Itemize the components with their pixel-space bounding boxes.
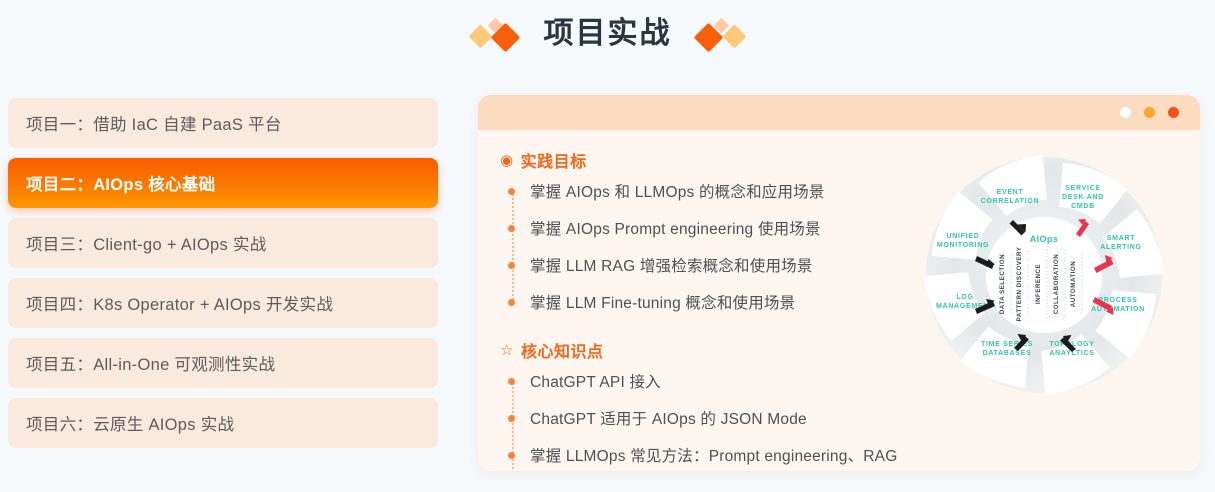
window-dot-white[interactable] xyxy=(1120,107,1131,118)
project-nav-list: 项目一：借助 IaC 自建 PaaS 平台 项目二：AIOps 核心基础 项目三… xyxy=(8,98,438,458)
list-item: 掌握 AIOps Prompt engineering 使用场景 xyxy=(530,218,900,242)
list-item: 掌握 AIOps 和 LLMOps 的概念和应用场景 xyxy=(530,181,900,205)
page-title: 项目实战 xyxy=(544,16,672,52)
page-root: 项目实战 项目一：借助 IaC 自建 PaaS 平台 项目二：AIOps 核心基… xyxy=(0,0,1215,492)
list-item: ChatGPT API 接入 xyxy=(530,371,900,395)
panel-titlebar xyxy=(478,95,1200,130)
window-dot-amber[interactable] xyxy=(1144,107,1155,118)
list-item: 掌握 LLMOps 常见方法：Prompt engineering、RAG 和 … xyxy=(530,445,900,471)
window-dot-red[interactable] xyxy=(1168,107,1179,118)
list-item: ChatGPT 适用于 AIOps 的 JSON Mode xyxy=(530,408,900,432)
diamond-decoration-left xyxy=(466,14,524,54)
diagram-center-label: AIOps xyxy=(1030,234,1059,244)
list-item: 掌握 LLM RAG 增强检索概念和使用场景 xyxy=(530,255,900,279)
inner-label-collaboration: COLLABORATION xyxy=(1053,254,1060,314)
panel-body: ◉ 实践目标 掌握 AIOps 和 LLMOps 的概念和应用场景 掌握 AIO… xyxy=(478,130,1200,471)
inner-label-pattern-discovery: PATTERN DISCOVERY xyxy=(1016,246,1023,321)
star-icon: ☆ xyxy=(500,343,514,358)
section-heading-knowledge: ☆ 核心知识点 xyxy=(500,338,900,362)
page-header: 项目实战 xyxy=(0,14,1215,54)
sidebar-item-label: 项目三：Client-go + AIOps 实战 xyxy=(26,231,267,255)
section-heading-label: 实践目标 xyxy=(521,148,587,172)
list-item-text: ChatGPT API 接入 xyxy=(530,371,900,395)
sidebar-item-project-6[interactable]: 项目六：云原生 AIOps 实战 xyxy=(8,398,438,448)
aiops-wheel-diagram: .seg { fill:#ffffff; } .olbl { fill:#2fc… xyxy=(915,146,1173,404)
inner-label-data-selection: DATA SELECTION xyxy=(999,254,1006,314)
knowledge-list: ChatGPT API 接入 ChatGPT 适用于 AIOps 的 JSON … xyxy=(508,371,900,471)
sidebar-item-project-1[interactable]: 项目一：借助 IaC 自建 PaaS 平台 xyxy=(8,98,438,148)
sidebar-item-label: 项目五：All-in-One 可观测性实战 xyxy=(26,351,275,375)
list-item-text: 掌握 LLM RAG 增强检索概念和使用场景 xyxy=(530,255,900,279)
list-item-text: 掌握 AIOps 和 LLMOps 的概念和应用场景 xyxy=(530,181,900,205)
sidebar-item-project-5[interactable]: 项目五：All-in-One 可观测性实战 xyxy=(8,338,438,388)
inner-label-automation: AUTOMATION xyxy=(1070,261,1077,307)
sidebar-item-label: 项目二：AIOps 核心基础 xyxy=(26,171,215,195)
sidebar-item-project-2[interactable]: 项目二：AIOps 核心基础 xyxy=(8,158,438,208)
section-heading-goals: ◉ 实践目标 xyxy=(500,148,900,172)
target-icon: ◉ xyxy=(500,153,514,168)
section-heading-label: 核心知识点 xyxy=(521,338,604,362)
list-item-text: 掌握 LLMOps 常见方法：Prompt engineering、RAG 和 … xyxy=(530,445,900,471)
sidebar-item-label: 项目六：云原生 AIOps 实战 xyxy=(26,411,234,435)
list-item-text: 掌握 AIOps Prompt engineering 使用场景 xyxy=(530,218,900,242)
diamond-mid-icon xyxy=(468,24,492,48)
list-item-text: 掌握 LLM Fine-tuning 概念和使用场景 xyxy=(530,292,900,316)
panel-text-column: ◉ 实践目标 掌握 AIOps 和 LLMOps 的概念和应用场景 掌握 AIO… xyxy=(500,148,900,471)
diamond-decoration-right xyxy=(692,14,750,54)
sidebar-item-project-3[interactable]: 项目三：Client-go + AIOps 实战 xyxy=(8,218,438,268)
sidebar-item-project-4[interactable]: 项目四：K8s Operator + AIOps 开发实战 xyxy=(8,278,438,328)
list-item-text: ChatGPT 适用于 AIOps 的 JSON Mode xyxy=(530,408,900,432)
goals-list: 掌握 AIOps 和 LLMOps 的概念和应用场景 掌握 AIOps Prom… xyxy=(508,181,900,316)
inner-label-inference: INFERENCE xyxy=(1035,264,1042,304)
list-item: 掌握 LLM Fine-tuning 概念和使用场景 xyxy=(530,292,900,316)
sidebar-item-label: 项目一：借助 IaC 自建 PaaS 平台 xyxy=(26,111,282,135)
sidebar-item-label: 项目四：K8s Operator + AIOps 开发实战 xyxy=(26,291,333,315)
detail-panel: ◉ 实践目标 掌握 AIOps 和 LLMOps 的概念和应用场景 掌握 AIO… xyxy=(478,95,1200,471)
